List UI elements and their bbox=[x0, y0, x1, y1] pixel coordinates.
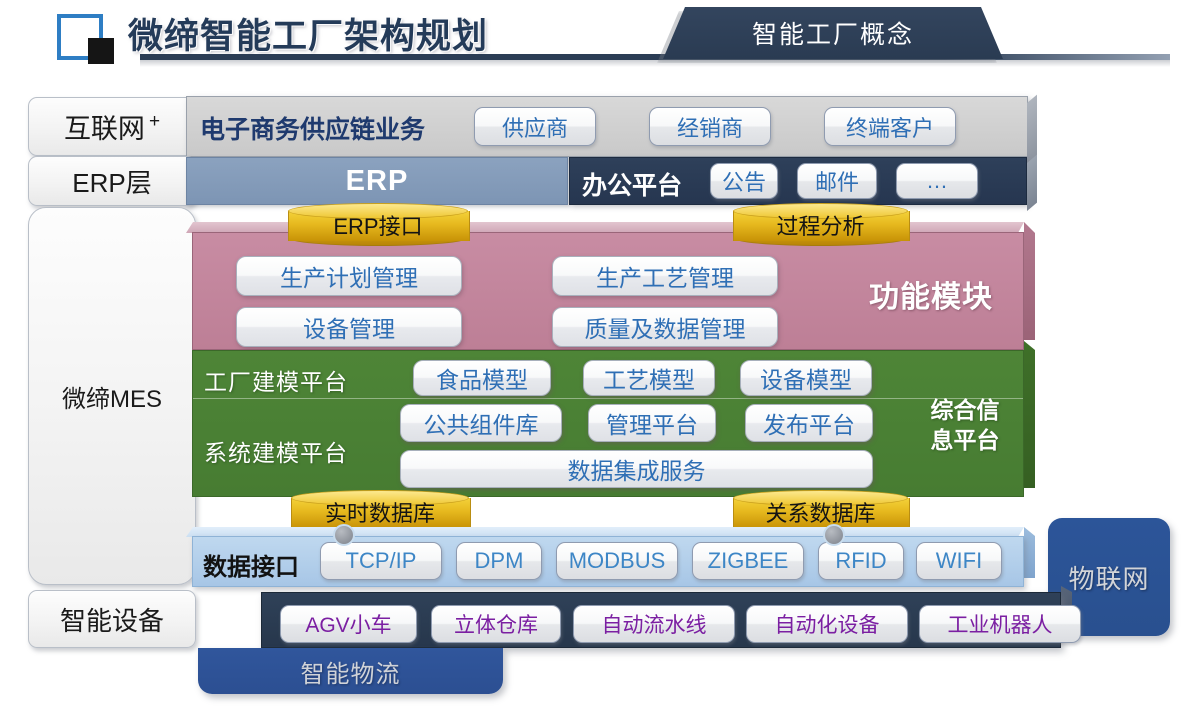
integrated-platform-side-face bbox=[1024, 341, 1035, 488]
button-mail[interactable]: 邮件 bbox=[797, 163, 877, 199]
button-equipment-management[interactable]: 设备管理 bbox=[236, 307, 462, 347]
button-automatic-assembly-line[interactable]: 自动流水线 bbox=[573, 605, 735, 643]
smart-logistics-tab-label: 智能物流 bbox=[198, 648, 503, 694]
layer-label-internet: 互联网 + bbox=[28, 97, 196, 156]
concept-tab-label: 智能工厂概念 bbox=[663, 7, 1003, 59]
integrated-platform-title-line1: 综合信 bbox=[905, 395, 1025, 425]
layer-label-smart-device: 智能设备 bbox=[28, 590, 196, 648]
button-agv-vehicle[interactable]: AGV小车 bbox=[280, 605, 417, 643]
button-stereo-warehouse[interactable]: 立体仓库 bbox=[431, 605, 561, 643]
system-modeling-platform-label: 系统建模平台 bbox=[204, 434, 348, 468]
button-dealer[interactable]: 经销商 bbox=[649, 107, 771, 146]
integrated-platform-divider bbox=[193, 398, 1023, 399]
button-more[interactable]: … bbox=[896, 163, 978, 199]
cylinder-erp-interface-label: ERP接口 bbox=[288, 203, 468, 246]
integrated-platform-title-line2: 息平台 bbox=[905, 425, 1025, 455]
cylinder-relational-database-label: 关系数据库 bbox=[733, 490, 908, 533]
connector-dot-realtime-db bbox=[333, 524, 355, 546]
button-food-model[interactable]: 食品模型 bbox=[413, 360, 551, 396]
button-common-component-library[interactable]: 公共组件库 bbox=[400, 404, 562, 442]
button-production-process-management[interactable]: 生产工艺管理 bbox=[552, 256, 778, 296]
function-module-side-face bbox=[1024, 222, 1035, 340]
page-title: 微缔智能工厂架构规划 bbox=[128, 8, 488, 59]
button-protocol-dpm[interactable]: DPM bbox=[456, 542, 542, 580]
button-data-integration-service[interactable]: 数据集成服务 bbox=[400, 450, 873, 488]
button-supplier[interactable]: 供应商 bbox=[474, 107, 596, 146]
cylinder-realtime-database[interactable]: 实时数据库 bbox=[291, 490, 469, 533]
square-filled-logo-icon bbox=[88, 38, 114, 64]
integrated-platform-title: 综合信 息平台 bbox=[905, 395, 1025, 455]
button-industrial-robot[interactable]: 工业机器人 bbox=[919, 605, 1081, 643]
cylinder-realtime-database-label: 实时数据库 bbox=[291, 490, 469, 533]
function-module-title: 功能模块 bbox=[869, 272, 993, 316]
button-craft-model[interactable]: 工艺模型 bbox=[583, 360, 715, 396]
ecommerce-supply-chain-label: 电子商务供应链业务 bbox=[200, 110, 425, 146]
button-protocol-wifi[interactable]: WIFI bbox=[916, 542, 1002, 580]
layer-label-internet-text: 互联网 bbox=[64, 107, 145, 146]
layer-label-erp: ERP层 bbox=[28, 156, 196, 206]
cylinder-erp-interface[interactable]: ERP接口 bbox=[288, 203, 468, 246]
erp-box: ERP bbox=[186, 157, 568, 205]
cylinder-relational-database[interactable]: 关系数据库 bbox=[733, 490, 908, 533]
button-automation-equipment[interactable]: 自动化设备 bbox=[746, 605, 908, 643]
button-management-platform[interactable]: 管理平台 bbox=[588, 404, 716, 442]
button-publishing-platform[interactable]: 发布平台 bbox=[745, 404, 873, 442]
cylinder-process-analysis-label: 过程分析 bbox=[733, 203, 908, 246]
button-protocol-rfid[interactable]: RFID bbox=[818, 542, 904, 580]
office-platform-label: 办公平台 bbox=[582, 166, 682, 202]
button-notice[interactable]: 公告 bbox=[710, 163, 778, 199]
header-rule-shadow bbox=[140, 60, 1170, 67]
architecture-diagram: 微缔智能工厂架构规划 智能工厂概念 互联网 + 电子商务供应链业务 供应商 经销… bbox=[0, 0, 1195, 714]
data-interface-label: 数据接口 bbox=[203, 547, 299, 582]
layer-label-internet-plus: + bbox=[149, 111, 160, 133]
button-equipment-model[interactable]: 设备模型 bbox=[740, 360, 872, 396]
button-protocol-tcpip[interactable]: TCP/IP bbox=[320, 542, 442, 580]
internet-row-side bbox=[1027, 95, 1037, 164]
data-interface-side-face bbox=[1024, 527, 1035, 578]
button-production-plan-management[interactable]: 生产计划管理 bbox=[236, 256, 462, 296]
button-end-customer[interactable]: 终端客户 bbox=[824, 107, 956, 146]
cylinder-process-analysis[interactable]: 过程分析 bbox=[733, 203, 908, 246]
connector-dot-relational-db bbox=[823, 524, 845, 546]
factory-modeling-platform-label: 工厂建模平台 bbox=[204, 363, 348, 397]
erp-row-side bbox=[1027, 155, 1037, 211]
layer-label-mes: 微缔MES bbox=[28, 207, 196, 585]
button-protocol-modbus[interactable]: MODBUS bbox=[556, 542, 678, 580]
button-quality-and-data-management[interactable]: 质量及数据管理 bbox=[552, 307, 778, 347]
button-protocol-zigbee[interactable]: ZIGBEE bbox=[692, 542, 804, 580]
